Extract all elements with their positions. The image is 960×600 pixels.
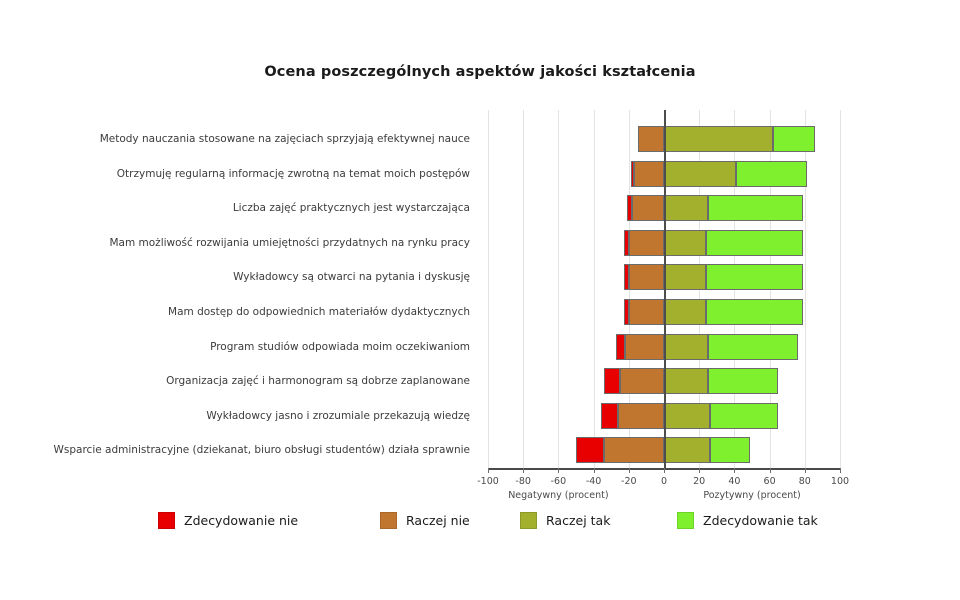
bar-segment: [706, 299, 803, 325]
bar-segment: [736, 161, 806, 187]
bar-segment: [604, 368, 620, 394]
x-tick-mark: [629, 468, 630, 473]
category-label: Organizacja zajęć i harmonogram są dobrz…: [50, 375, 470, 387]
bar-segment: [664, 334, 708, 360]
x-tick-mark: [488, 468, 489, 473]
category-label: Metody nauczania stosowane na zajęciach …: [50, 133, 470, 145]
legend-item[interactable]: Raczej tak: [520, 508, 610, 532]
legend-label: Zdecydowanie tak: [703, 513, 818, 528]
chart-legend: Zdecydowanie nieRaczej nieRaczej takZdec…: [0, 508, 960, 538]
legend-swatch-icon: [158, 512, 175, 529]
category-label: Wsparcie administracyjne (dziekanat, biu…: [50, 444, 470, 456]
x-tick-label: -40: [574, 476, 614, 487]
bar-segment: [664, 264, 706, 290]
bar-segment: [664, 368, 708, 394]
x-tick-mark: [594, 468, 595, 473]
bar-segment: [773, 126, 815, 152]
bar-segment: [710, 437, 750, 463]
bar-segment: [601, 403, 619, 429]
category-label: Mam możliwość rozwijania umiejętności pr…: [50, 237, 470, 249]
category-axis-labels: Metody nauczania stosowane na zajęciach …: [60, 110, 480, 468]
bar-segment: [708, 368, 778, 394]
legend-swatch-icon: [520, 512, 537, 529]
chart-container: Ocena poszczególnych aspektów jakości ks…: [0, 0, 960, 600]
legend-swatch-icon: [677, 512, 694, 529]
bar-segment: [632, 195, 664, 221]
bar-segment: [664, 161, 736, 187]
x-tick-mark: [840, 468, 841, 473]
legend-swatch-icon: [380, 512, 397, 529]
x-tick-label: 80: [785, 476, 825, 487]
x-tick-mark: [558, 468, 559, 473]
bar-segment: [618, 403, 664, 429]
bar-segment: [620, 368, 664, 394]
x-axis-label-negative: Negatywny (procent): [458, 490, 658, 501]
plot-area: [488, 110, 840, 468]
x-tick-label: 20: [679, 476, 719, 487]
bar-segment: [708, 195, 803, 221]
x-tick-mark: [734, 468, 735, 473]
chart-title: Ocena poszczególnych aspektów jakości ks…: [0, 64, 960, 80]
legend-item[interactable]: Raczej nie: [380, 508, 470, 532]
bar-segment: [616, 334, 625, 360]
bar-segment: [629, 264, 664, 290]
category-label: Otrzymuję regularną informację zwrotną n…: [50, 168, 470, 180]
bar-segment: [624, 299, 629, 325]
x-tick-mark: [664, 468, 665, 473]
legend-item[interactable]: Zdecydowanie tak: [677, 508, 818, 532]
bar-segment: [664, 403, 710, 429]
bar-segment: [576, 437, 604, 463]
bar-segment: [624, 264, 629, 290]
bar-segment: [710, 403, 779, 429]
bar-segment: [631, 161, 635, 187]
gridline: [840, 110, 841, 468]
bar-segment: [664, 299, 706, 325]
bar-segment: [625, 334, 664, 360]
category-label: Liczba zajęć praktycznych jest wystarcza…: [50, 202, 470, 214]
legend-label: Raczej nie: [406, 513, 470, 528]
bar-segment: [634, 161, 664, 187]
legend-label: Raczej tak: [546, 513, 610, 528]
x-axis: -100-80-60-40-20020406080100Negatywny (p…: [488, 468, 840, 470]
bar-segment: [627, 195, 632, 221]
bar-segment: [629, 299, 664, 325]
bar-segment: [604, 437, 664, 463]
x-tick-label: 40: [714, 476, 754, 487]
bar-segment: [664, 126, 773, 152]
bar-segment: [624, 230, 629, 256]
x-tick-label: 100: [820, 476, 860, 487]
x-axis-label-positive: Pozytywny (procent): [652, 490, 852, 501]
bar-segment: [664, 195, 708, 221]
bar-segment: [708, 334, 798, 360]
zero-line: [664, 110, 666, 468]
x-tick-label: 0: [644, 476, 684, 487]
x-tick-mark: [523, 468, 524, 473]
category-label: Wykładowcy jasno i zrozumiale przekazują…: [50, 410, 470, 422]
category-label: Program studiów odpowiada moim oczekiwan…: [50, 341, 470, 353]
legend-label: Zdecydowanie nie: [184, 513, 298, 528]
legend-item[interactable]: Zdecydowanie nie: [158, 508, 298, 532]
bar-segment: [664, 230, 706, 256]
category-label: Wykładowcy są otwarci na pytania i dysku…: [50, 271, 470, 283]
bar-segment: [706, 230, 803, 256]
x-tick-label: -80: [503, 476, 543, 487]
bar-segment: [706, 264, 803, 290]
x-tick-mark: [770, 468, 771, 473]
x-tick-label: 60: [750, 476, 790, 487]
x-tick-mark: [699, 468, 700, 473]
x-tick-label: -20: [609, 476, 649, 487]
x-tick-mark: [805, 468, 806, 473]
category-label: Mam dostęp do odpowiednich materiałów dy…: [50, 306, 470, 318]
bar-segment: [629, 230, 664, 256]
x-tick-label: -100: [468, 476, 508, 487]
bar-segment: [638, 126, 664, 152]
x-tick-label: -60: [538, 476, 578, 487]
bar-segment: [664, 437, 710, 463]
